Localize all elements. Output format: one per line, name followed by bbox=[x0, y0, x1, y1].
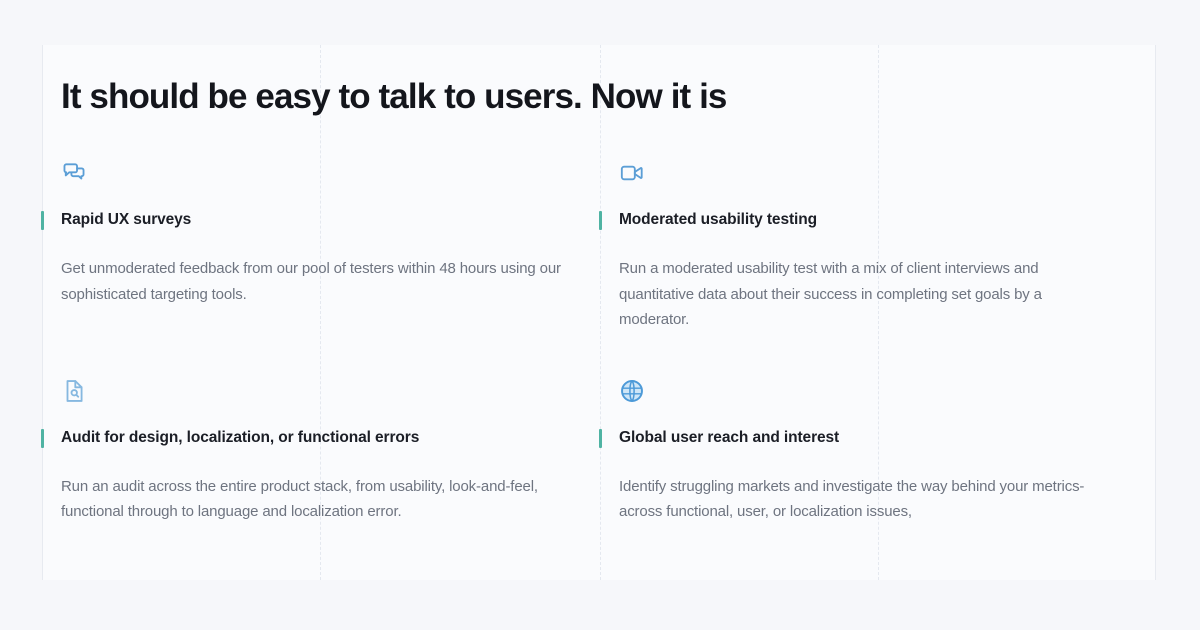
feature-title-row: Rapid UX surveys bbox=[41, 210, 579, 230]
feature-card-global-user-reach[interactable]: Global user reach and interest Identify … bbox=[619, 378, 1141, 525]
feature-description: Get unmoderated feedback from our pool o… bbox=[61, 256, 571, 307]
feature-description: Run a moderated usability test with a mi… bbox=[619, 256, 1101, 333]
chat-bubbles-icon bbox=[61, 160, 87, 186]
feature-card-rapid-ux-surveys[interactable]: Rapid UX surveys Get unmoderated feedbac… bbox=[61, 160, 619, 333]
content-container: It should be easy to talk to users. Now … bbox=[61, 45, 1141, 525]
feature-card-audit-errors[interactable]: Audit for design, localization, or funct… bbox=[61, 378, 619, 525]
globe-icon bbox=[619, 378, 645, 404]
feature-description: Identify struggling markets and investig… bbox=[619, 474, 1101, 525]
page-title: It should be easy to talk to users. Now … bbox=[61, 76, 1141, 118]
feature-title-row: Global user reach and interest bbox=[599, 428, 1101, 448]
feature-title: Moderated usability testing bbox=[619, 211, 817, 228]
title-accent-bar bbox=[41, 211, 44, 230]
video-camera-icon bbox=[619, 160, 645, 186]
feature-title: Audit for design, localization, or funct… bbox=[61, 429, 419, 446]
feature-title: Global user reach and interest bbox=[619, 429, 839, 446]
title-accent-bar bbox=[41, 429, 44, 448]
file-search-icon bbox=[61, 378, 87, 404]
feature-title-row: Audit for design, localization, or funct… bbox=[41, 428, 579, 448]
title-accent-bar bbox=[599, 211, 602, 230]
features-grid: Rapid UX surveys Get unmoderated feedbac… bbox=[61, 160, 1141, 525]
feature-description: Run an audit across the entire product s… bbox=[61, 474, 571, 525]
title-accent-bar bbox=[599, 429, 602, 448]
feature-title-row: Moderated usability testing bbox=[599, 210, 1101, 230]
feature-title: Rapid UX surveys bbox=[61, 211, 191, 228]
feature-card-moderated-usability-testing[interactable]: Moderated usability testing Run a modera… bbox=[619, 160, 1141, 333]
page-root: It should be easy to talk to users. Now … bbox=[0, 0, 1200, 630]
